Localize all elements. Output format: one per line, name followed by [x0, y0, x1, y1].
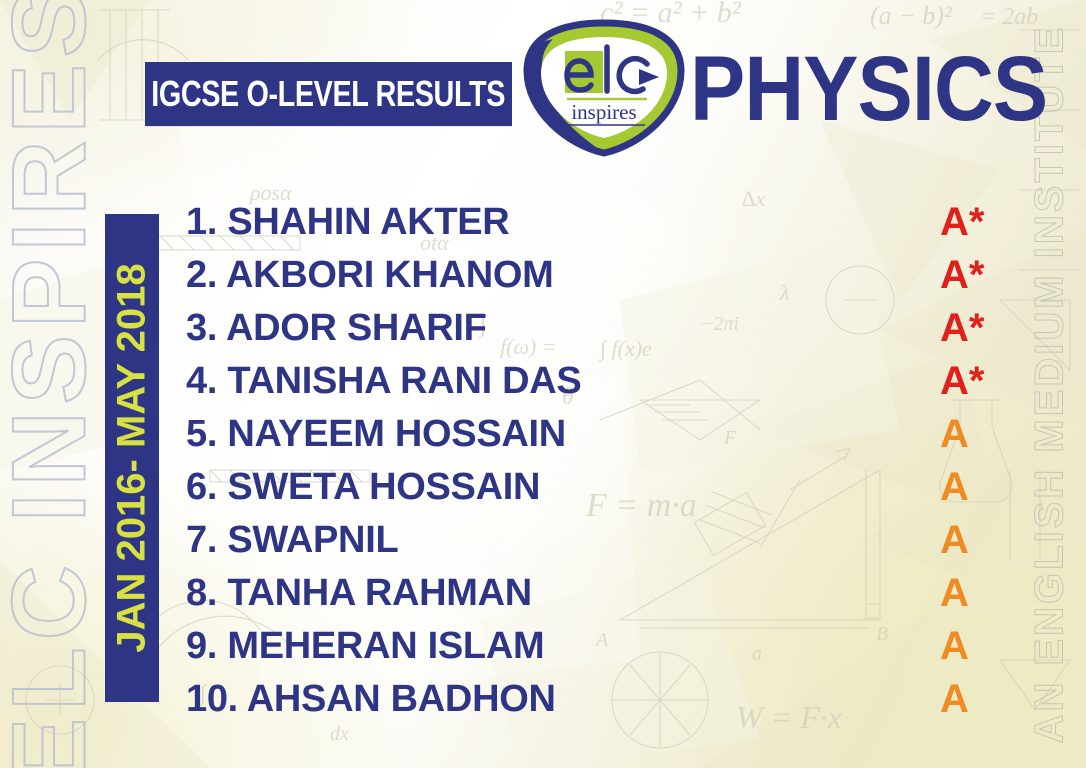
date-range-band: JAN 2016- MAY 2018 — [105, 214, 159, 702]
student-grade: A* — [940, 253, 984, 298]
result-row: 3. ADOR SHARIFA* — [186, 302, 996, 355]
result-row: 2. AKBORI KHANOMA* — [186, 249, 996, 302]
student-name: 4. TANISHA RANI DAS — [186, 360, 581, 403]
svg-text:dx: dx — [330, 723, 349, 745]
result-row: 8. TANHA RAHMANA — [186, 567, 996, 620]
student-name: 5. NAYEEM HOSSAIN — [186, 413, 566, 456]
student-grade: A — [940, 571, 969, 616]
svg-text:inspires: inspires — [571, 100, 636, 124]
result-row: 4. TANISHA RANI DASA* — [186, 355, 996, 408]
student-name: 1. SHAHIN AKTER — [186, 201, 509, 244]
student-grade: A — [940, 412, 969, 457]
exam-title-label: IGCSE O-LEVEL RESULTS — [152, 73, 506, 115]
student-name: 7. SWAPNIL — [186, 519, 398, 562]
elc-logo: inspires — [521, 19, 687, 157]
svg-text:= 2ab: = 2ab — [980, 4, 1038, 30]
subject-title: PHYSICS — [690, 43, 1047, 135]
student-name: 10. AHSAN BADHON — [186, 678, 556, 721]
student-grade: A — [940, 677, 969, 722]
exam-title-badge: IGCSE O-LEVEL RESULTS — [145, 62, 512, 126]
student-grade: A — [940, 518, 969, 563]
svg-text:(a − b)²: (a − b)² — [870, 1, 953, 30]
student-grade: A* — [940, 200, 984, 245]
results-list: 1. SHAHIN AKTERA*2. AKBORI KHANOMA*3. AD… — [186, 196, 996, 726]
student-name: 2. AKBORI KHANOM — [186, 254, 553, 297]
result-row: 9. MEHERAN ISLAMA — [186, 620, 996, 673]
result-row: 7. SWAPNILA — [186, 514, 996, 567]
student-name: 6. SWETA HOSSAIN — [186, 466, 540, 509]
result-row: 1. SHAHIN AKTERA* — [186, 196, 996, 249]
result-row: 10. AHSAN BADHONA — [186, 673, 996, 726]
student-name: 3. ADOR SHARIF — [186, 307, 487, 350]
result-row: 6. SWETA HOSSAINA — [186, 461, 996, 514]
student-grade: A* — [940, 306, 984, 351]
student-name: 9. MEHERAN ISLAM — [186, 625, 544, 668]
student-grade: A* — [940, 359, 984, 404]
date-range-label: JAN 2016- MAY 2018 — [110, 263, 155, 652]
student-name: 8. TANHA RAHMAN — [186, 572, 532, 615]
results-poster: F = m·a W = F·x F A B a ρosα otα c² = a²… — [0, 0, 1086, 768]
result-row: 5. NAYEEM HOSSAINA — [186, 408, 996, 461]
student-grade: A — [940, 624, 969, 669]
student-grade: A — [940, 465, 969, 510]
